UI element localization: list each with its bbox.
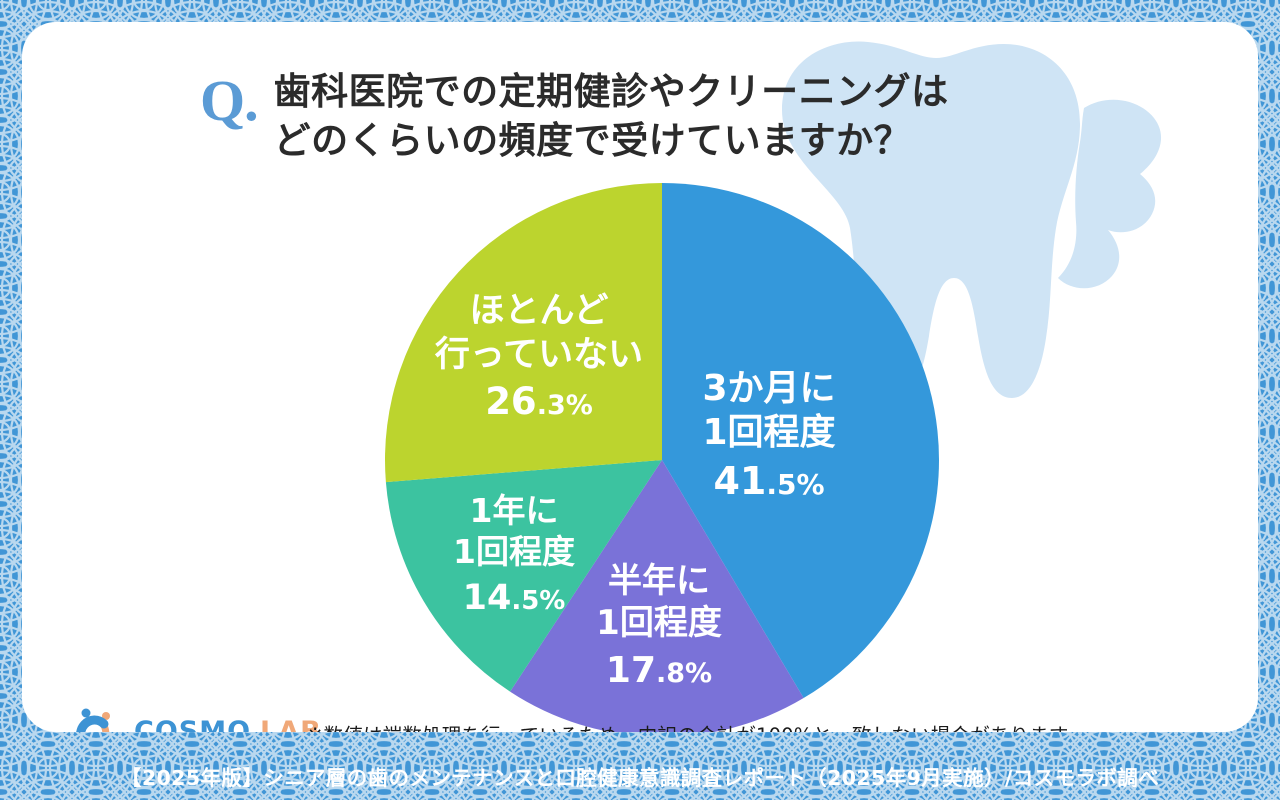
slice-label-line1: 3か月に [702,368,835,409]
infographic-slide: Q. 歯科医院での定期健診やクリーニングは どのくらいの頻度で受けていますか？ … [0,0,1280,800]
slice-label-line2: 行っていない [435,335,643,375]
question-marker: Q. [200,72,258,130]
slice-label-line1: ほとんど [470,291,609,331]
slice-label-line2: 1回程度 [596,603,722,643]
bottom-banner: 【2025年版】シニア層の歯のメンテナンスと口腔健康意識調査レポート（2025年… [0,752,1280,800]
logo-text: COSMOLΔB [134,718,322,733]
page-title: 歯科医院での定期健診やクリーニングは どのくらいの頻度で受けていますか？ [274,68,949,166]
pie-label-halfyear: 半年に 1回程度 17.8% [596,561,722,691]
slice-label-line2: 1回程度 [453,532,575,571]
banner-label: 【2025年版】シニア層の歯のメンテナンスと口腔健康意識調査レポート（2025年… [121,761,1159,791]
pie-label-3months: 3か月に 1回程度 41.5% [702,368,835,503]
slice-label-line1: 半年に [608,561,710,601]
pie-chart: 3か月に 1回程度 41.5% 半年に 1回程度 17.8% [384,182,940,732]
slice-label-line2: 1回程度 [702,412,835,453]
question-block: Q. 歯科医院での定期健診やクリーニングは どのくらいの頻度で受けていますか？ [200,68,949,166]
pie-slices [385,183,939,732]
logo-text-cosmo: COSMO [134,716,251,733]
content-card: Q. 歯科医院での定期健診やクリーニングは どのくらいの頻度で受けていますか？ … [22,22,1258,732]
pie-slice-almost-never[interactable] [385,183,662,482]
logo-mark-icon [72,708,124,732]
footnote-text: ※数値は端数処理を行っているため、内訳の合計が100%と一致しない場合があります… [307,719,1086,732]
slice-label-line1: 1年に [470,491,559,530]
cosmo-lab-logo: COSMOLΔB [72,708,322,732]
pie-label-year: 1年に 1回程度 14.5% [453,491,575,618]
